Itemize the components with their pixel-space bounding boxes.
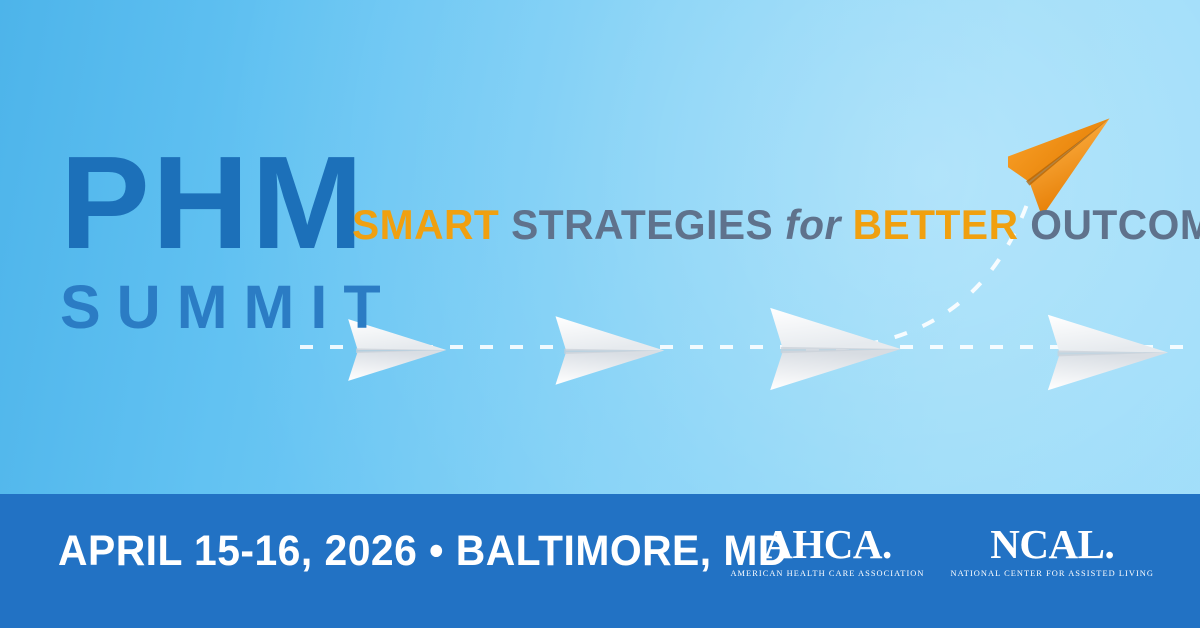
tagline-word-smart: SMART [352, 201, 499, 248]
white-paper-plane-2 [552, 304, 666, 397]
phm-summit-logo-lockup: PHM SUMMIT [60, 148, 360, 338]
event-date-location: APRIL 15-16, 2026 • BALTIMORE, MD [58, 530, 788, 573]
ahca-subtitle: AMERICAN HEALTH CARE ASSOCIATION [730, 570, 924, 578]
white-paper-plane-4 [1044, 301, 1170, 404]
tagline-word-outcomes: OUTCOMES [1030, 201, 1200, 248]
ahca-logo: AHCA. AMERICAN HEALTH CARE ASSOCIATION [730, 524, 924, 578]
ahca-mark: AHCA. [730, 524, 924, 565]
orange-paper-plane-breakaway [1008, 104, 1128, 214]
tagline-word-strategies: STRATEGIES [511, 201, 773, 248]
white-paper-plane-3 [766, 293, 903, 405]
tagline-word-better: BETTER [853, 201, 1019, 248]
ncal-subtitle: NATIONAL CENTER FOR ASSISTED LIVING [951, 570, 1154, 578]
tagline-word-for: for [785, 201, 841, 248]
event-tagline: SMART STRATEGIES for BETTER OUTCOMES [352, 204, 1200, 246]
phm-acronym: PHM [60, 148, 366, 259]
summit-wordmark: SUMMIT [60, 277, 360, 338]
footer-bar: APRIL 15-16, 2026 • BALTIMORE, MD AHCA. … [0, 494, 1200, 628]
phm-summit-promo-banner: PHM SUMMIT SMART STRATEGIES for BETTER O… [0, 0, 1200, 628]
sponsor-logos: AHCA. AMERICAN HEALTH CARE ASSOCIATION N… [730, 524, 1154, 578]
ncal-logo: NCAL. NATIONAL CENTER FOR ASSISTED LIVIN… [951, 524, 1154, 578]
ncal-mark: NCAL. [951, 524, 1154, 565]
